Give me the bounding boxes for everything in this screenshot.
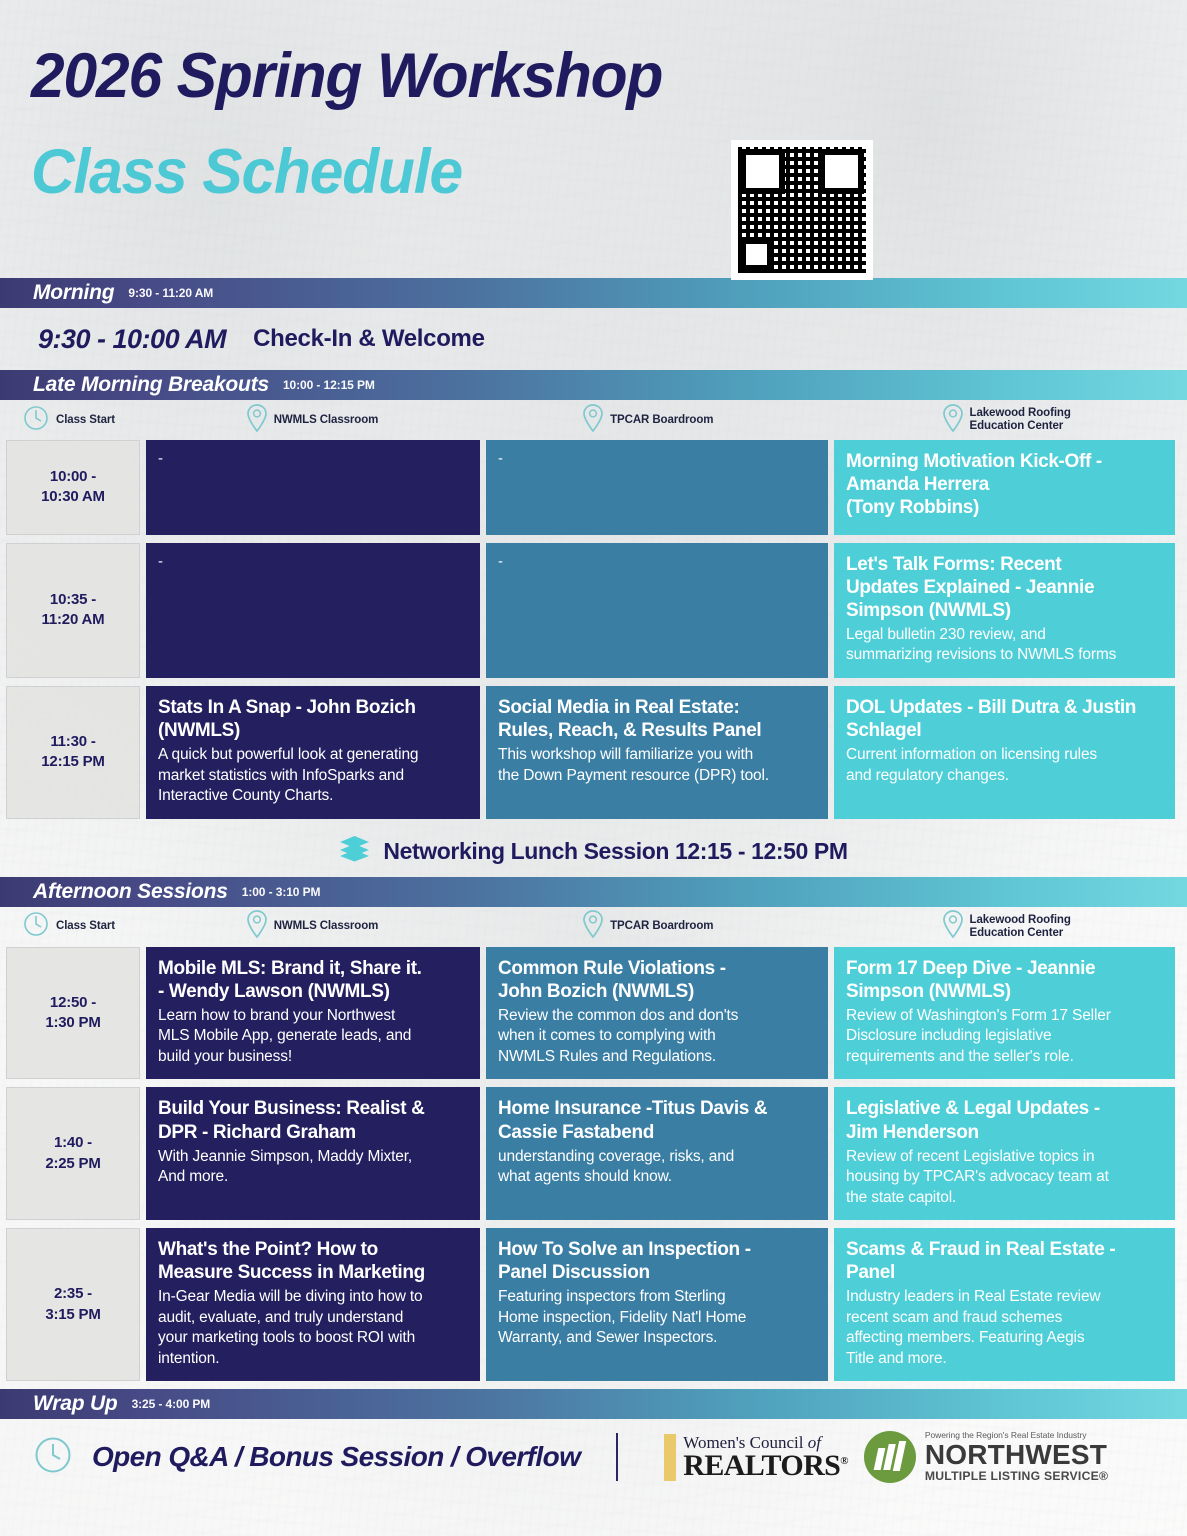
session-card[interactable]: Social Media in Real Estate: Rules, Reac… xyxy=(486,686,828,819)
column-headers-morning: Class StartNWMLS ClassroomTPCAR Boardroo… xyxy=(0,400,1187,440)
session-description: This workshop will familiarize you with … xyxy=(498,745,816,786)
column-headers-afternoon: Class StartNWMLS ClassroomTPCAR Boardroo… xyxy=(0,907,1187,947)
section-bar-afternoon: Afternoon Sessions 1:00 - 3:10 PM xyxy=(0,877,1187,907)
session-description: Current information on licensing rules a… xyxy=(846,745,1163,786)
session-card[interactable]: - xyxy=(486,543,828,678)
column-header-2: TPCAR Boardroom xyxy=(495,910,839,943)
schedule-row: 10:00 - 10:30 AM--Morning Motivation Kic… xyxy=(0,440,1187,535)
session-title: Let's Talk Forms: Recent Updates Explain… xyxy=(846,553,1163,623)
session-card[interactable]: - xyxy=(146,543,480,678)
session-card[interactable]: Mobile MLS: Brand it, Share it. - Wendy … xyxy=(146,947,480,1080)
session-card[interactable]: Build Your Business: Realist & DPR - Ric… xyxy=(146,1087,480,1220)
session-card[interactable]: How To Solve an Inspection - Panel Discu… xyxy=(486,1228,828,1381)
session-description: With Jeannie Simpson, Maddy Mixter, And … xyxy=(158,1147,468,1188)
session-card[interactable]: Morning Motivation Kick-Off - Amanda Her… xyxy=(834,440,1175,535)
section-bar-wrap-up: Wrap Up 3:25 - 4:00 PM xyxy=(0,1389,1187,1419)
section-time: 9:30 - 11:20 AM xyxy=(128,286,213,300)
map-pin-icon xyxy=(247,910,267,943)
session-title: Legislative & Legal Updates - Jim Hender… xyxy=(846,1097,1163,1143)
row-time-cell: 10:35 - 11:20 AM xyxy=(6,543,140,678)
flyer-page: 2026 Spring Workshop Class Schedule Morn… xyxy=(0,0,1187,1536)
session-description: Legal bulletin 230 review, and summarizi… xyxy=(846,625,1163,666)
column-header-label: NWMLS Classroom xyxy=(274,920,379,933)
nwmls-badge-icon xyxy=(864,1431,916,1483)
nwmls-name: NORTHWEST xyxy=(925,1441,1108,1469)
column-header-label: Lakewood Roofing Education Center xyxy=(970,914,1071,940)
session-title: Build Your Business: Realist & DPR - Ric… xyxy=(158,1097,468,1143)
section-time: 3:25 - 4:00 PM xyxy=(132,1397,211,1411)
map-pin-icon xyxy=(943,910,963,943)
clock-icon xyxy=(23,405,49,436)
page-subtitle: Class Schedule xyxy=(31,140,462,204)
session-title: Stats In A Snap - John Bozich (NWMLS) xyxy=(158,696,468,742)
session-description: Featuring inspectors from Sterling Home … xyxy=(498,1287,816,1348)
column-header-label: TPCAR Boardroom xyxy=(610,920,713,933)
wcr-line2: REALTORS xyxy=(683,1449,840,1482)
session-description: Review of Washington's Form 17 Seller Di… xyxy=(846,1006,1163,1067)
clock-icon xyxy=(23,911,49,942)
row-time-cell: 1:40 - 2:25 PM xyxy=(6,1087,140,1220)
lunch-label: Networking Lunch Session 12:15 - 12:50 P… xyxy=(383,838,847,865)
section-time: 10:00 - 12:15 PM xyxy=(283,378,375,392)
session-title: - xyxy=(498,450,816,468)
womens-council-realtors-logo: Women's Council of REALTORS® xyxy=(664,1434,848,1481)
session-description: Learn how to brand your Northwest MLS Mo… xyxy=(158,1006,468,1067)
column-header-0: Class Start xyxy=(8,405,153,436)
stack-icon xyxy=(339,835,370,868)
session-title: Home Insurance -Titus Davis & Cassie Fas… xyxy=(498,1097,816,1143)
map-pin-icon xyxy=(943,404,963,437)
column-header-label: Class Start xyxy=(56,920,115,933)
column-header-label: Lakewood Roofing Education Center xyxy=(970,407,1071,433)
session-description: In-Gear Media will be diving into how to… xyxy=(158,1287,468,1369)
divider xyxy=(616,1433,618,1481)
session-card[interactable]: Legislative & Legal Updates - Jim Hender… xyxy=(834,1087,1175,1220)
map-pin-icon xyxy=(583,404,603,437)
session-title: - xyxy=(498,553,816,571)
qr-code-icon[interactable] xyxy=(731,140,873,280)
section-time: 1:00 - 3:10 PM xyxy=(242,885,321,899)
hero-header: 2026 Spring Workshop Class Schedule xyxy=(0,0,1187,278)
schedule-row: 2:35 - 3:15 PMWhat's the Point? How to M… xyxy=(0,1228,1187,1381)
column-header-3: Lakewood Roofing Education Center xyxy=(840,910,1179,943)
session-title: - xyxy=(158,450,468,468)
column-header-label: TPCAR Boardroom xyxy=(610,414,713,427)
session-title: Form 17 Deep Dive - Jeannie Simpson (NWM… xyxy=(846,957,1163,1003)
schedule-row: 11:30 - 12:15 PMStats In A Snap - John B… xyxy=(0,686,1187,819)
session-title: How To Solve an Inspection - Panel Discu… xyxy=(498,1238,816,1284)
section-name: Wrap Up xyxy=(33,1392,118,1416)
session-description: Industry leaders in Real Estate review r… xyxy=(846,1287,1163,1369)
session-title: Common Rule Violations - John Bozich (NW… xyxy=(498,957,816,1003)
session-title: Social Media in Real Estate: Rules, Reac… xyxy=(498,696,816,742)
column-header-2: TPCAR Boardroom xyxy=(495,404,839,437)
session-title: Morning Motivation Kick-Off - Amanda Her… xyxy=(846,450,1163,520)
row-time-cell: 2:35 - 3:15 PM xyxy=(6,1228,140,1381)
row-time-cell: 10:00 - 10:30 AM xyxy=(6,440,140,535)
checkin-time: 9:30 - 10:00 AM xyxy=(38,324,226,355)
session-card[interactable]: Home Insurance -Titus Davis & Cassie Fas… xyxy=(486,1087,828,1220)
schedule-row: 1:40 - 2:25 PMBuild Your Business: Reali… xyxy=(0,1087,1187,1220)
session-card[interactable]: Let's Talk Forms: Recent Updates Explain… xyxy=(834,543,1175,678)
checkin-row: 9:30 - 10:00 AM Check-In & Welcome xyxy=(0,308,1187,370)
session-title: Scams & Fraud in Real Estate - Panel xyxy=(846,1238,1163,1284)
section-bar-late-morning: Late Morning Breakouts 10:00 - 12:15 PM xyxy=(0,370,1187,400)
session-card[interactable]: - xyxy=(146,440,480,535)
wrap-up-label: Open Q&A / Bonus Session / Overflow xyxy=(92,1441,580,1473)
session-title: Mobile MLS: Brand it, Share it. - Wendy … xyxy=(158,957,468,1003)
section-name: Morning xyxy=(33,281,114,305)
session-card[interactable]: - xyxy=(486,440,828,535)
afternoon-schedule-grid: 12:50 - 1:30 PMMobile MLS: Brand it, Sha… xyxy=(0,947,1187,1382)
session-description: Review of recent Legislative topics in h… xyxy=(846,1147,1163,1208)
row-time-cell: 11:30 - 12:15 PM xyxy=(6,686,140,819)
section-name: Late Morning Breakouts xyxy=(33,373,269,397)
session-title: - xyxy=(158,553,468,571)
schedule-row: 12:50 - 1:30 PMMobile MLS: Brand it, Sha… xyxy=(0,947,1187,1080)
wcr-mark: ® xyxy=(840,1455,848,1467)
session-card[interactable]: What's the Point? How to Measure Success… xyxy=(146,1228,480,1381)
session-title: DOL Updates - Bill Dutra & Justin Schlag… xyxy=(846,696,1163,742)
column-header-1: NWMLS Classroom xyxy=(153,404,495,437)
session-card[interactable]: Scams & Fraud in Real Estate - PanelIndu… xyxy=(834,1228,1175,1381)
session-card[interactable]: DOL Updates - Bill Dutra & Justin Schlag… xyxy=(834,686,1175,819)
section-name: Afternoon Sessions xyxy=(33,880,228,904)
logo-group: Women's Council of REALTORS® Powering th… xyxy=(664,1430,1108,1483)
nwmls-subname: MULTIPLE LISTING SERVICE® xyxy=(925,1469,1108,1484)
section-bar-morning: Morning 9:30 - 11:20 AM xyxy=(0,278,1187,308)
lunch-banner: Networking Lunch Session 12:15 - 12:50 P… xyxy=(0,827,1187,877)
map-pin-icon xyxy=(583,910,603,943)
session-title: What's the Point? How to Measure Success… xyxy=(158,1238,468,1284)
column-header-0: Class Start xyxy=(8,911,153,942)
column-header-3: Lakewood Roofing Education Center xyxy=(840,404,1179,437)
column-header-label: Class Start xyxy=(56,414,115,427)
morning-schedule-grid: 10:00 - 10:30 AM--Morning Motivation Kic… xyxy=(0,440,1187,819)
column-header-label: NWMLS Classroom xyxy=(274,414,379,427)
logo-accent-bar xyxy=(664,1434,676,1481)
checkin-label: Check-In & Welcome xyxy=(253,325,485,353)
schedule-row: 10:35 - 11:20 AM--Let's Talk Forms: Rece… xyxy=(0,543,1187,678)
session-card[interactable]: Stats In A Snap - John Bozich (NWMLS)A q… xyxy=(146,686,480,819)
session-description: Review the common dos and don'ts when it… xyxy=(498,1006,816,1067)
column-header-1: NWMLS Classroom xyxy=(153,910,495,943)
session-description: understanding coverage, risks, and what … xyxy=(498,1147,816,1188)
session-card[interactable]: Form 17 Deep Dive - Jeannie Simpson (NWM… xyxy=(834,947,1175,1080)
wrap-up-row: Open Q&A / Bonus Session / Overflow Wome… xyxy=(0,1419,1187,1495)
clock-icon xyxy=(34,1436,72,1479)
northwest-mls-logo: Powering the Region's Real Estate Indust… xyxy=(864,1430,1108,1483)
page-title: 2026 Spring Workshop xyxy=(31,44,662,108)
row-time-cell: 12:50 - 1:30 PM xyxy=(6,947,140,1080)
map-pin-icon xyxy=(247,404,267,437)
session-card[interactable]: Common Rule Violations - John Bozich (NW… xyxy=(486,947,828,1080)
session-description: A quick but powerful look at generating … xyxy=(158,745,468,806)
